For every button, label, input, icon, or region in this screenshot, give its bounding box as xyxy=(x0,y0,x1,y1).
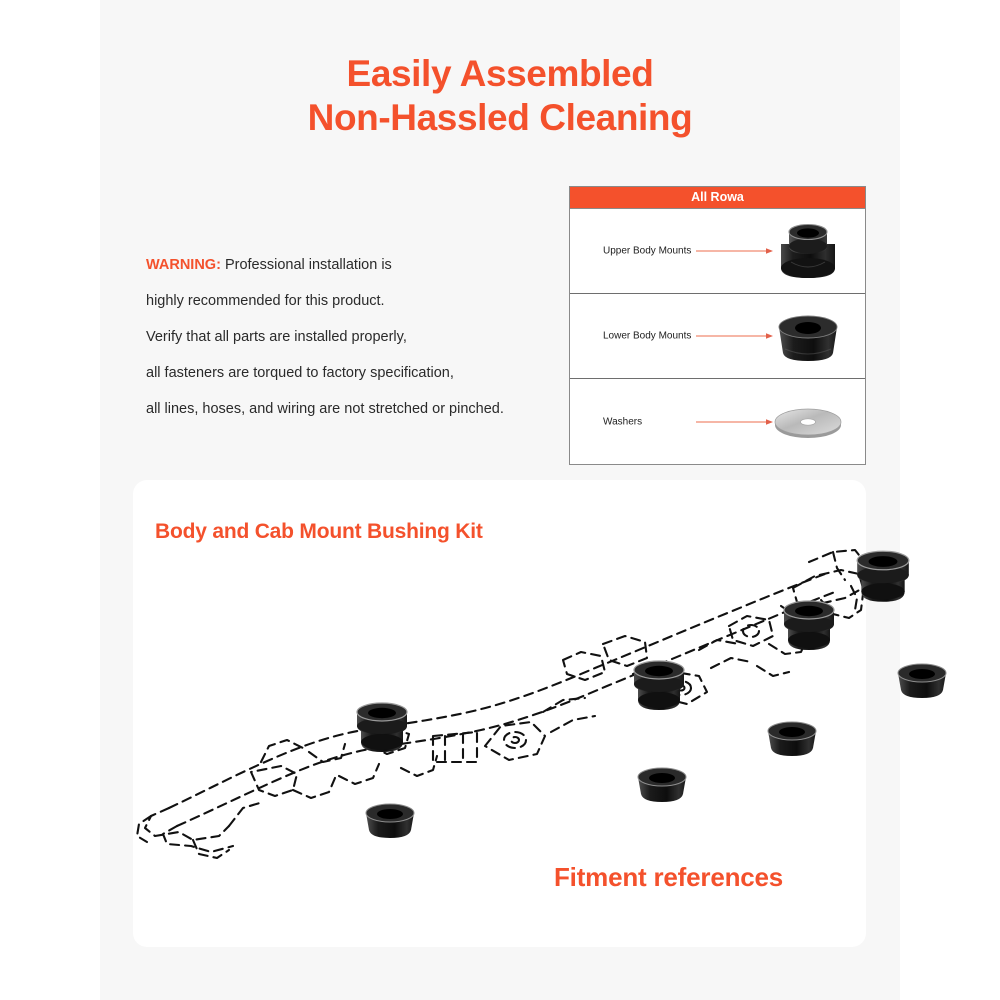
arrow-right-icon xyxy=(696,418,774,425)
bushing-short xyxy=(633,762,691,806)
page-title: Easily Assembled Non-Hassled Cleaning xyxy=(0,52,1000,140)
bushing-short xyxy=(361,798,419,842)
bushing-tall xyxy=(778,598,840,654)
warning-text-block: WARNING: Professional installation is hi… xyxy=(146,247,566,427)
washer-image xyxy=(765,389,851,455)
arrow-right-icon xyxy=(696,333,774,340)
fitment-diagram xyxy=(133,540,866,900)
bushing-tall xyxy=(628,658,690,714)
table-row: Washers xyxy=(570,379,865,464)
bushing-tall xyxy=(851,548,915,606)
warning-line-2: highly recommended for this product. xyxy=(146,283,566,319)
bushing-short xyxy=(893,658,951,702)
bushing-short xyxy=(763,716,821,760)
warning-line-1: WARNING: Professional installation is xyxy=(146,247,566,283)
warning-line-4: all fasteners are torqued to factory spe… xyxy=(146,355,566,391)
parts-row-label: Washers xyxy=(603,416,642,427)
lower-body-mount-image xyxy=(765,303,851,369)
parts-table: All Rowa Upper Body Mounts xyxy=(569,186,866,465)
parts-row-label: Lower Body Mounts xyxy=(603,331,691,342)
headline-line-2: Non-Hassled Cleaning xyxy=(0,96,1000,140)
bushing-kit-card: Body and Cab Mount Bushing Kit xyxy=(133,480,866,947)
warning-line-5: all lines, hoses, and wiring are not str… xyxy=(146,391,566,427)
parts-table-header: All Rowa xyxy=(570,187,865,209)
fitment-caption: Fitment references xyxy=(554,862,783,893)
table-row: Lower Body Mounts xyxy=(570,294,865,379)
arrow-right-icon xyxy=(696,248,774,255)
infographic-page: Easily Assembled Non-Hassled Cleaning WA… xyxy=(0,0,1000,1000)
headline-line-1: Easily Assembled xyxy=(347,53,654,94)
parts-row-label: Upper Body Mounts xyxy=(603,246,691,257)
warning-label: WARNING: xyxy=(146,257,221,273)
warning-line-1-text: Professional installation is xyxy=(225,257,392,273)
bushing-tall xyxy=(351,700,413,756)
warning-line-3: Verify that all parts are installed prop… xyxy=(146,319,566,355)
truck-frame-outline xyxy=(133,540,866,900)
table-row: Upper Body Mounts xyxy=(570,209,865,294)
upper-body-mount-image xyxy=(765,218,851,284)
